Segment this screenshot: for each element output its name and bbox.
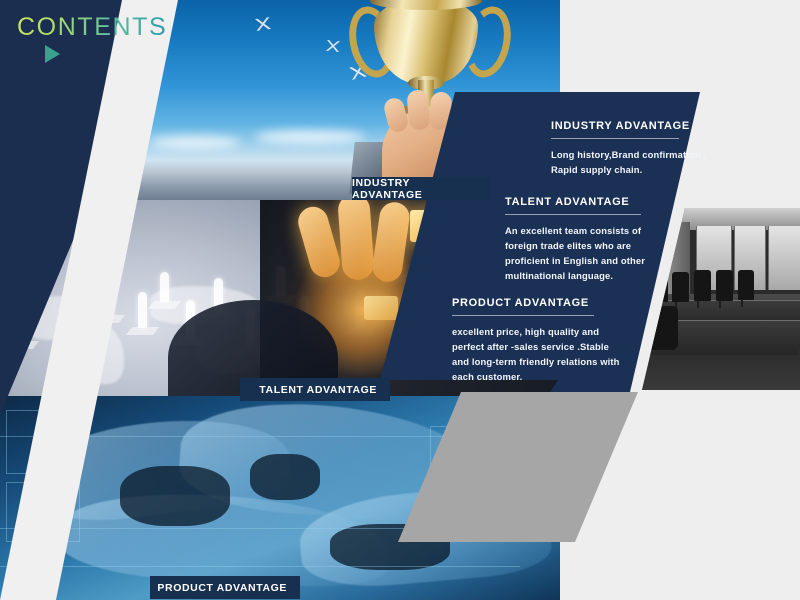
caption-product: PRODUCT ADVANTAGE [150,576,300,599]
trophy-bowl [374,0,478,84]
talent-advantage-body: An excellent team consists of foreign tr… [505,223,673,283]
office-chair [716,270,733,301]
office-chair [694,270,711,301]
play-triangle-icon [45,45,60,63]
caption-talent-label: TALENT ADVANTAGE [259,384,377,396]
office-window [768,226,800,290]
finger-shape [382,96,410,134]
glow-finger [337,200,375,281]
divider [452,315,594,316]
car-shadow [120,466,230,526]
glow-card [364,296,398,320]
hud-line [0,566,520,567]
industry-advantage-body: Long history,Brand confirmation , Rapid … [551,147,731,177]
glow-finger [371,200,412,283]
product-advantage-block: PRODUCT ADVANTAGE excellent price, high … [452,297,626,384]
product-advantage-body: excellent price, high quality and perfec… [452,324,626,384]
industry-advantage-heading: INDUSTRY ADVANTAGE [551,120,731,132]
office-chair [738,270,754,300]
divider [505,214,641,215]
cloud-shape [150,136,240,149]
page-title: CONTENTS [17,13,167,42]
caption-industry-label: INDUSTRY ADVANTAGE [352,177,477,201]
talent-advantage-heading: TALENT ADVANTAGE [505,196,673,208]
product-advantage-heading: PRODUCT ADVANTAGE [452,297,626,309]
divider [551,138,679,139]
industry-advantage-block: INDUSTRY ADVANTAGE Long history,Brand co… [551,120,731,177]
contents-slide: INDUSTRY ADVANTAGE TALENT ADVANTAGE PROD… [0,0,800,600]
glow-finger [295,203,344,280]
car-shadow [250,454,320,500]
caption-product-label: PRODUCT ADVANTAGE [157,582,287,594]
caption-talent: TALENT ADVANTAGE [240,378,390,401]
caption-industry: INDUSTRY ADVANTAGE [352,177,490,200]
talent-advantage-block: TALENT ADVANTAGE An excellent team consi… [505,196,673,283]
person-silhouette [138,292,147,328]
person-silhouette [160,272,169,302]
finger-shape [406,89,430,131]
office-chair [672,272,689,302]
